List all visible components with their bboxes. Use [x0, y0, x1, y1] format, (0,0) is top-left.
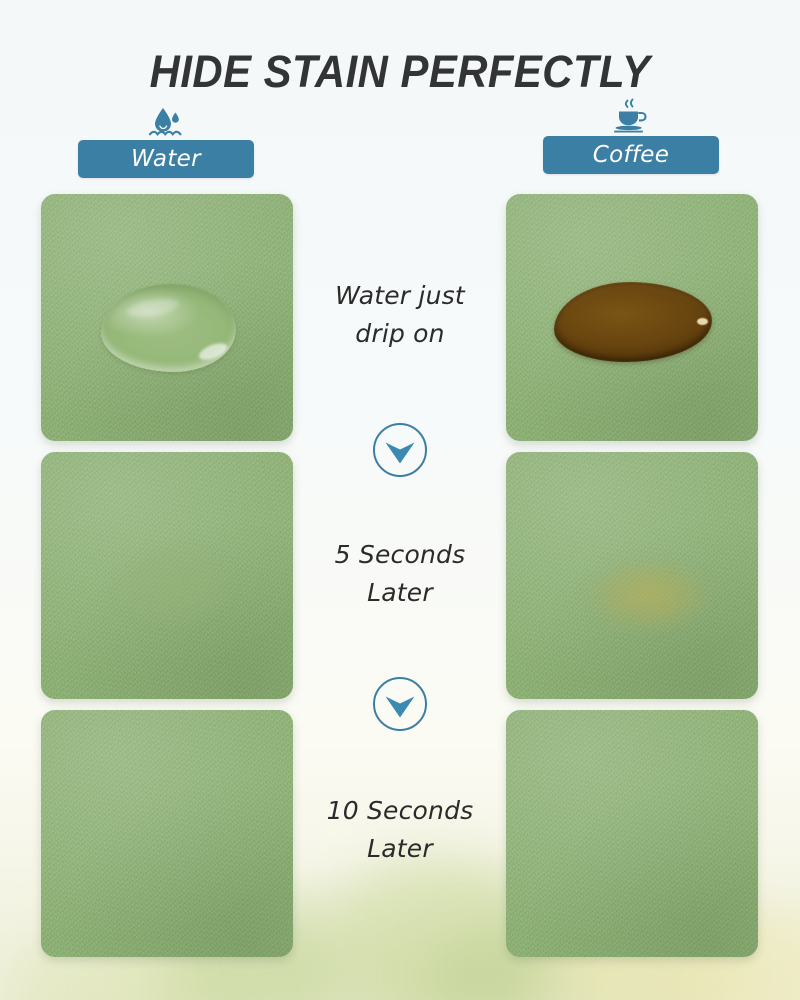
water-faint-mark: [93, 530, 253, 640]
column-badge-water: Water: [78, 140, 254, 178]
spill-highlight: [697, 318, 708, 325]
coffee-pool-spill: [554, 282, 712, 362]
spill-highlight: [126, 296, 180, 321]
coffee-cup-icon: [543, 100, 719, 134]
water-pool-spill: [101, 284, 236, 372]
spill-rim: [555, 283, 711, 361]
swatch-water-10s: [41, 710, 293, 957]
stage-caption-10s: 10 Seconds Later: [296, 792, 504, 868]
spill-highlight: [197, 340, 230, 363]
stage-caption-line: drip on: [300, 315, 500, 353]
water-drop-icon: [78, 104, 254, 138]
stage-caption-5s: 5 Seconds Later: [300, 536, 500, 612]
swatch-coffee-10s: [506, 710, 758, 957]
infographic-page: HIDE STAIN PERFECTLY Water: [0, 0, 800, 1000]
stage-caption-line: 10 Seconds: [296, 792, 504, 830]
swatch-coffee-drip: [506, 194, 758, 441]
column-badge-coffee: Coffee: [543, 136, 719, 174]
chevron-down-circle-icon: [372, 676, 428, 732]
stage-caption-line: Later: [300, 574, 500, 612]
column-header-water: Water: [78, 104, 254, 178]
stage-caption-drip: Water just drip on: [300, 277, 500, 353]
column-badge-label: Water: [131, 146, 201, 172]
stage-caption-line: 5 Seconds: [300, 536, 500, 574]
swatch-water-5s: [41, 452, 293, 699]
swatch-coffee-5s: [506, 452, 758, 699]
column-header-coffee: Coffee: [543, 100, 719, 174]
chevron-down-circle-icon: [372, 422, 428, 478]
page-title: HIDE STAIN PERFECTLY: [28, 44, 772, 100]
coffee-faint-mark: [556, 534, 721, 639]
column-badge-label: Coffee: [593, 142, 669, 168]
swatch-water-drip: [41, 194, 293, 441]
stage-caption-line: Later: [296, 830, 504, 868]
stage-caption-line: Water just: [300, 277, 500, 315]
